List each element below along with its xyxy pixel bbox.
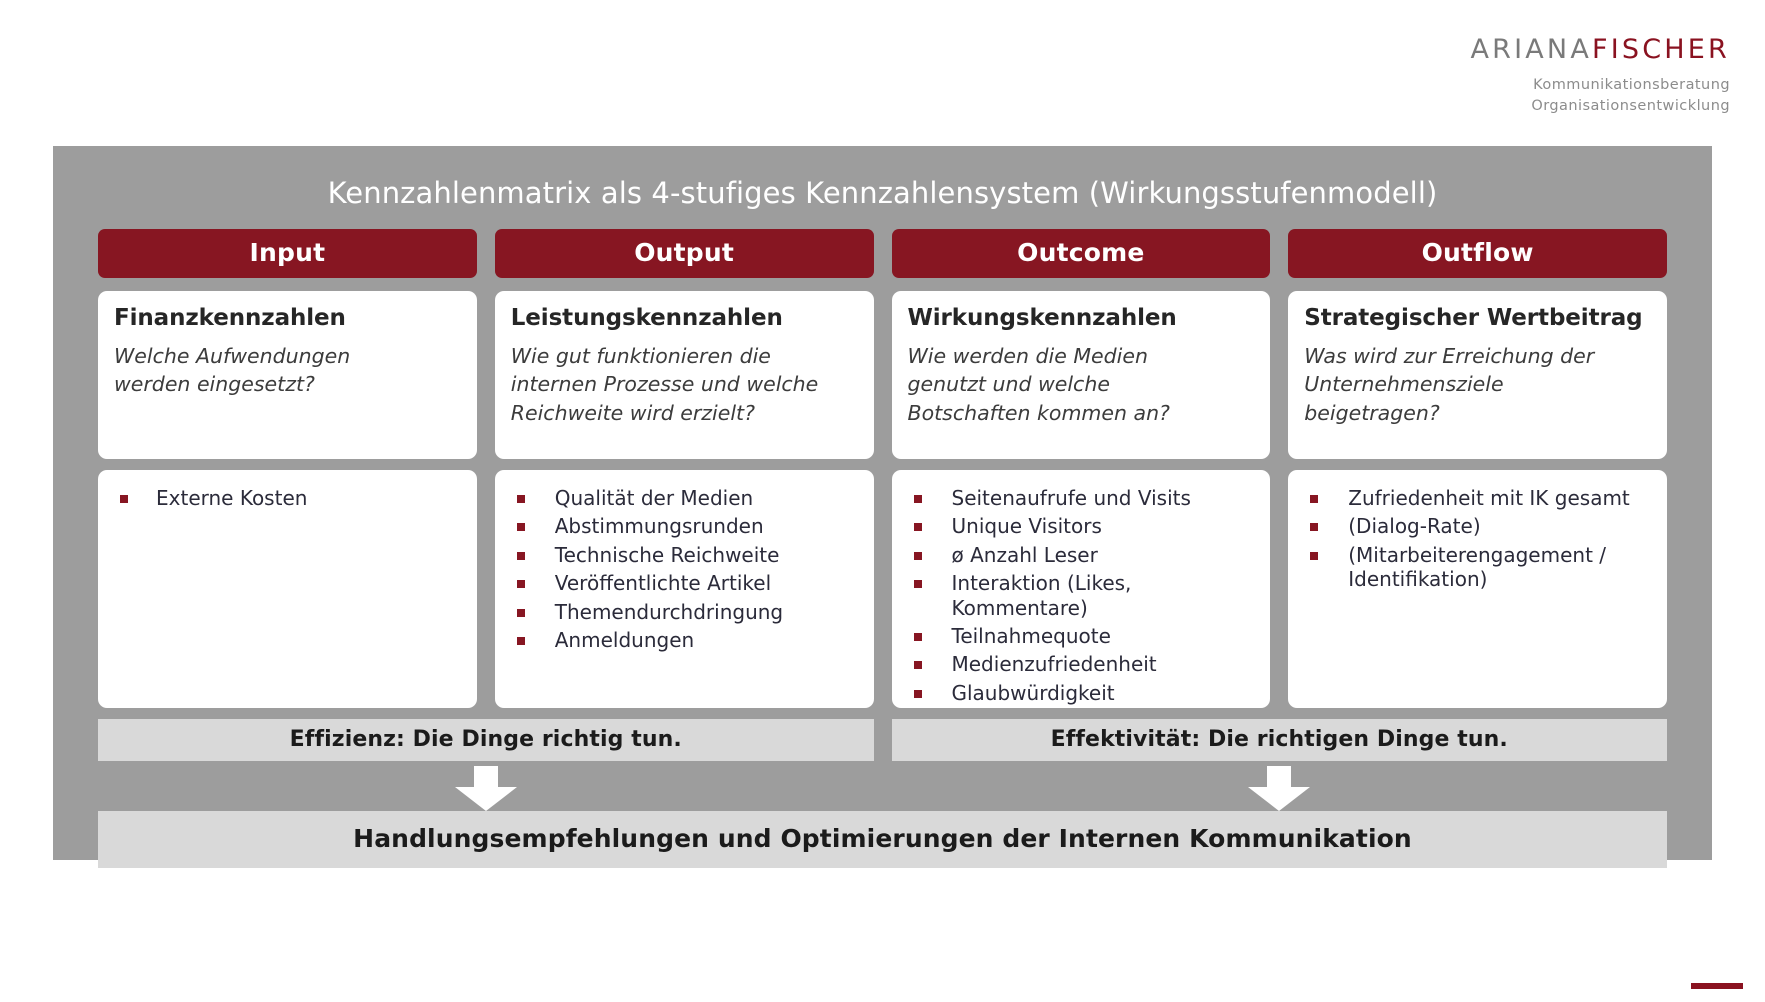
bullet-square-icon	[914, 661, 922, 669]
efficiency-bar: Effizienz: Die Dinge richtig tun.	[98, 719, 874, 761]
list-item: (Dialog-Rate)	[1302, 514, 1653, 538]
list-item: Veröffentlichte Artikel	[509, 571, 860, 595]
list-item-label: Glaubwürdigkeit	[952, 681, 1115, 705]
arrow-head	[1248, 787, 1310, 811]
list-item-label: Externe Kosten	[156, 486, 307, 510]
bullet-square-icon	[517, 609, 525, 617]
principle-bars-container: Effizienz: Die Dinge richtig tun. Effekt…	[53, 708, 1712, 761]
arrows-container	[53, 761, 1712, 811]
description-question-output: Wie gut funktionieren die internen Proze…	[511, 342, 858, 427]
list-item-label: (Dialog-Rate)	[1348, 514, 1480, 538]
bullet-square-icon	[1310, 552, 1318, 560]
list-item-label: Unique Visitors	[952, 514, 1102, 538]
columns-container: Input Finanzkennzahlen Welche Aufwendung…	[53, 210, 1712, 708]
brand-logo: ARIANAFISCHER Kommunikationsberatung Org…	[1470, 36, 1730, 117]
description-title-input: Finanzkennzahlen	[114, 305, 461, 331]
column-header-outcome: Outcome	[892, 229, 1271, 278]
logo-subtitle: Kommunikationsberatung Organisationsentw…	[1470, 75, 1730, 117]
bullet-square-icon	[120, 495, 128, 503]
list-item: ø Anzahl Leser	[906, 543, 1257, 567]
list-item: Externe Kosten	[112, 486, 463, 510]
list-item: (Mitarbeiterengagement / Identifikation)	[1302, 543, 1653, 592]
list-item: Seitenaufrufe und Visits	[906, 486, 1257, 510]
column-header-output: Output	[495, 229, 874, 278]
column-header-outflow: Outflow	[1288, 229, 1667, 278]
list-item-label: Anmeldungen	[555, 628, 694, 652]
bullet-square-icon	[517, 523, 525, 531]
description-question-input: Welche Aufwendungen werden eingesetzt?	[114, 342, 461, 399]
list-item: Unique Visitors	[906, 514, 1257, 538]
list-item: Qualität der Medien	[509, 486, 860, 510]
bullet-square-icon	[914, 580, 922, 588]
panel-title: Kennzahlenmatrix als 4-stufiges Kennzahl…	[53, 146, 1712, 210]
list-item-label: (Mitarbeiterengagement / Identifikation)	[1348, 543, 1606, 591]
metrics-list-outcome: Seitenaufrufe und Visits Unique Visitors…	[906, 486, 1257, 708]
corner-accent-mark	[1691, 983, 1743, 989]
bullet-square-icon	[1310, 523, 1318, 531]
list-item-label: Qualität der Medien	[555, 486, 753, 510]
list-item-label: Abstimmungsrunden	[555, 514, 764, 538]
list-item-label: Medienzufriedenheit	[952, 652, 1157, 676]
list-item: Medienzufriedenheit	[906, 652, 1257, 676]
metrics-list-outflow: Zufriedenheit mit IK gesamt (Dialog-Rate…	[1302, 486, 1653, 592]
list-item: Glaubwürdigkeit	[906, 681, 1257, 705]
logo-name-first: ARIANA	[1470, 34, 1592, 65]
arrow-shaft	[1267, 766, 1291, 788]
description-title-outcome: Wirkungskennzahlen	[908, 305, 1255, 331]
effectiveness-bar: Effektivität: Die richtigen Dinge tun.	[892, 719, 1668, 761]
bullet-square-icon	[517, 495, 525, 503]
bullet-square-icon	[914, 690, 922, 698]
arrow-down-icon	[455, 766, 517, 810]
column-header-input: Input	[98, 229, 477, 278]
kennzahlenmatrix-panel: Kennzahlenmatrix als 4-stufiges Kennzahl…	[53, 146, 1712, 860]
metrics-list-output: Qualität der Medien Abstimmungsrunden Te…	[509, 486, 860, 652]
arrow-shaft	[474, 766, 498, 788]
list-item-label: Interaktion (Likes, Kommentare)	[952, 571, 1132, 619]
column-description-outflow: Strategischer Wertbeitrag Was wird zur E…	[1288, 291, 1667, 459]
column-description-outcome: Wirkungskennzahlen Wie werden die Medien…	[892, 291, 1271, 459]
column-metrics-input: Externe Kosten	[98, 470, 477, 708]
list-item: Anmeldungen	[509, 628, 860, 652]
list-item-label: Themendurchdringung	[555, 600, 783, 624]
bullet-square-icon	[517, 552, 525, 560]
bullet-square-icon	[914, 495, 922, 503]
bullet-square-icon	[914, 633, 922, 641]
list-item-label: ø Anzahl Leser	[952, 543, 1098, 567]
list-item-label: Seitenaufrufe und Visits	[952, 486, 1191, 510]
list-item: Zufriedenheit mit IK gesamt	[1302, 486, 1653, 510]
list-item: Interaktion (Likes, Kommentare)	[906, 571, 1257, 620]
column-input: Input Finanzkennzahlen Welche Aufwendung…	[98, 229, 477, 708]
list-item: Teilnahmequote	[906, 624, 1257, 648]
arrow-down-icon	[1248, 766, 1310, 810]
metrics-list-input: Externe Kosten	[112, 486, 463, 510]
bullet-square-icon	[517, 580, 525, 588]
list-item-label: Zufriedenheit mit IK gesamt	[1348, 486, 1630, 510]
bullet-square-icon	[517, 637, 525, 645]
list-item: Technische Reichweite	[509, 543, 860, 567]
description-question-outcome: Wie werden die Medien genutzt und welche…	[908, 342, 1255, 427]
bullet-square-icon	[914, 523, 922, 531]
description-question-outflow: Was wird zur Erreichung der Unternehmens…	[1304, 342, 1651, 427]
bullet-square-icon	[1310, 495, 1318, 503]
description-title-outflow: Strategischer Wertbeitrag	[1304, 305, 1651, 331]
column-description-input: Finanzkennzahlen Welche Aufwendungen wer…	[98, 291, 477, 459]
bullet-square-icon	[914, 552, 922, 560]
column-outcome: Outcome Wirkungskennzahlen Wie werden di…	[892, 229, 1271, 708]
arrow-cell-left	[98, 761, 874, 811]
column-metrics-outcome: Seitenaufrufe und Visits Unique Visitors…	[892, 470, 1271, 708]
list-item: Abstimmungsrunden	[509, 514, 860, 538]
column-description-output: Leistungskennzahlen Wie gut funktioniere…	[495, 291, 874, 459]
column-output: Output Leistungskennzahlen Wie gut funkt…	[495, 229, 874, 708]
arrow-head	[455, 787, 517, 811]
column-metrics-outflow: Zufriedenheit mit IK gesamt (Dialog-Rate…	[1288, 470, 1667, 708]
list-item-label: Teilnahmequote	[952, 624, 1111, 648]
logo-wordmark: ARIANAFISCHER	[1470, 36, 1730, 63]
arrow-cell-right	[892, 761, 1668, 811]
list-item-label: Veröffentlichte Artikel	[555, 571, 771, 595]
column-outflow: Outflow Strategischer Wertbeitrag Was wi…	[1288, 229, 1667, 708]
list-item-label: Technische Reichweite	[555, 543, 780, 567]
list-item: Themendurchdringung	[509, 600, 860, 624]
logo-subtitle-line-2: Organisationsentwicklung	[1470, 96, 1730, 117]
description-title-output: Leistungskennzahlen	[511, 305, 858, 331]
logo-name-second: FISCHER	[1592, 34, 1730, 65]
logo-subtitle-line-1: Kommunikationsberatung	[1470, 75, 1730, 96]
conclusion-container: Handlungsempfehlungen und Optimierungen …	[53, 811, 1712, 868]
column-metrics-output: Qualität der Medien Abstimmungsrunden Te…	[495, 470, 874, 708]
conclusion-bar: Handlungsempfehlungen und Optimierungen …	[98, 811, 1667, 868]
